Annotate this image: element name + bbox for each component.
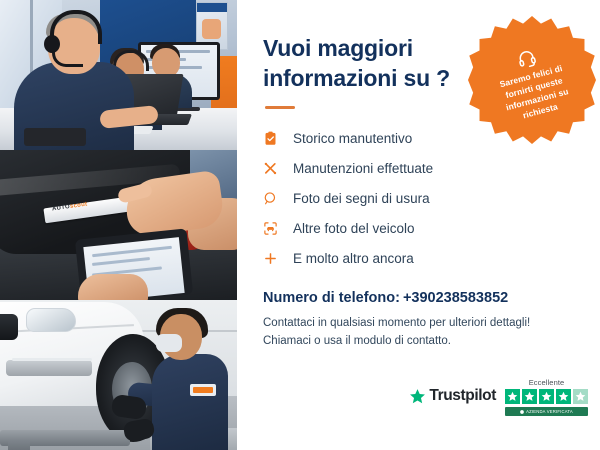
star-rating [505, 389, 588, 404]
phone-line: Numero di telefono:+390238583852 [263, 290, 578, 306]
star-filled [556, 389, 571, 404]
car-scan-icon [263, 221, 285, 236]
feature-label: Altre foto del veicolo [293, 221, 415, 236]
feature-item-wear-photos: Foto dei segni di usura [263, 189, 578, 208]
features-list: Storico manutentivo Manutenzioni effettu… [263, 129, 578, 268]
chrome-trim [12, 358, 92, 361]
verified-badge: AZIENDA VERIFICATA [505, 407, 588, 416]
mechanic-face-mask [156, 334, 182, 352]
car-headlight [26, 308, 76, 332]
photo-wheel-inspection [0, 300, 237, 450]
mechanic-body [152, 354, 228, 450]
feature-item-maintenance-done: Manutenzioni effettuate [263, 159, 578, 178]
check-circle-icon [520, 410, 524, 414]
vehicle-info-ad-card: AUTOscout [0, 0, 600, 450]
bumper-vent [6, 360, 92, 376]
trustpilot-widget[interactable]: Trustpilot Eccellente [409, 378, 588, 416]
title-underline-rule [265, 106, 295, 109]
photo-body-measurement: AUTOscout [0, 150, 237, 300]
star-partial [573, 389, 588, 404]
lift-post [8, 440, 30, 450]
trustpilot-wordmark: Trustpilot [429, 387, 496, 405]
feature-label: Storico manutentivo [293, 131, 412, 146]
phone-number[interactable]: +390238583852 [403, 290, 508, 306]
contact-line-2: Chiamaci o usa il modulo di contatto. [263, 335, 451, 347]
feature-label: Foto dei segni di usura [293, 191, 430, 206]
technician-hand-lower [78, 274, 148, 300]
photo-column: AUTOscout [0, 0, 237, 450]
uniform-logo-patch [190, 384, 216, 396]
trustpilot-rating: Eccellente [505, 378, 588, 416]
rating-label: Eccellente [505, 378, 588, 387]
feature-label: E molto altro ancora [293, 251, 414, 266]
verified-label: AZIENDA VERIFICATA [526, 409, 573, 414]
contact-instructions: Contattaci in qualsiasi momento per ulte… [263, 315, 578, 351]
feature-label: Manutenzioni effettuate [293, 161, 433, 176]
feature-item-more-photos: Altre foto del veicolo [263, 219, 578, 238]
trustpilot-star-icon [409, 388, 426, 405]
callout-badge: Saremo felici di fornirti queste informa… [468, 16, 596, 144]
contact-line-1: Contattaci in qualsiasi momento per ulte… [263, 317, 530, 329]
tools-cross-icon [263, 161, 285, 176]
poster-strip [197, 3, 227, 12]
star-filled [522, 389, 537, 404]
clipboard-check-icon [263, 131, 285, 146]
content-panel: Vuoi maggiori informazioni su ? Saremo f… [237, 0, 600, 450]
star-filled [505, 389, 520, 404]
star-filled [539, 389, 554, 404]
page-title: Vuoi maggiori informazioni su ? [263, 34, 473, 94]
trustpilot-logo: Trustpilot [409, 378, 496, 405]
car-grille [0, 314, 18, 340]
photo-call-center [0, 0, 237, 150]
phone-label: Numero di telefono: [263, 290, 400, 306]
headset-icon [515, 47, 538, 70]
feature-item-much-more: E molto altro ancora [263, 249, 578, 268]
magnifier-icon [263, 191, 285, 206]
poster-face [202, 19, 221, 39]
desk-tablet [24, 128, 86, 146]
plus-icon [263, 251, 285, 266]
